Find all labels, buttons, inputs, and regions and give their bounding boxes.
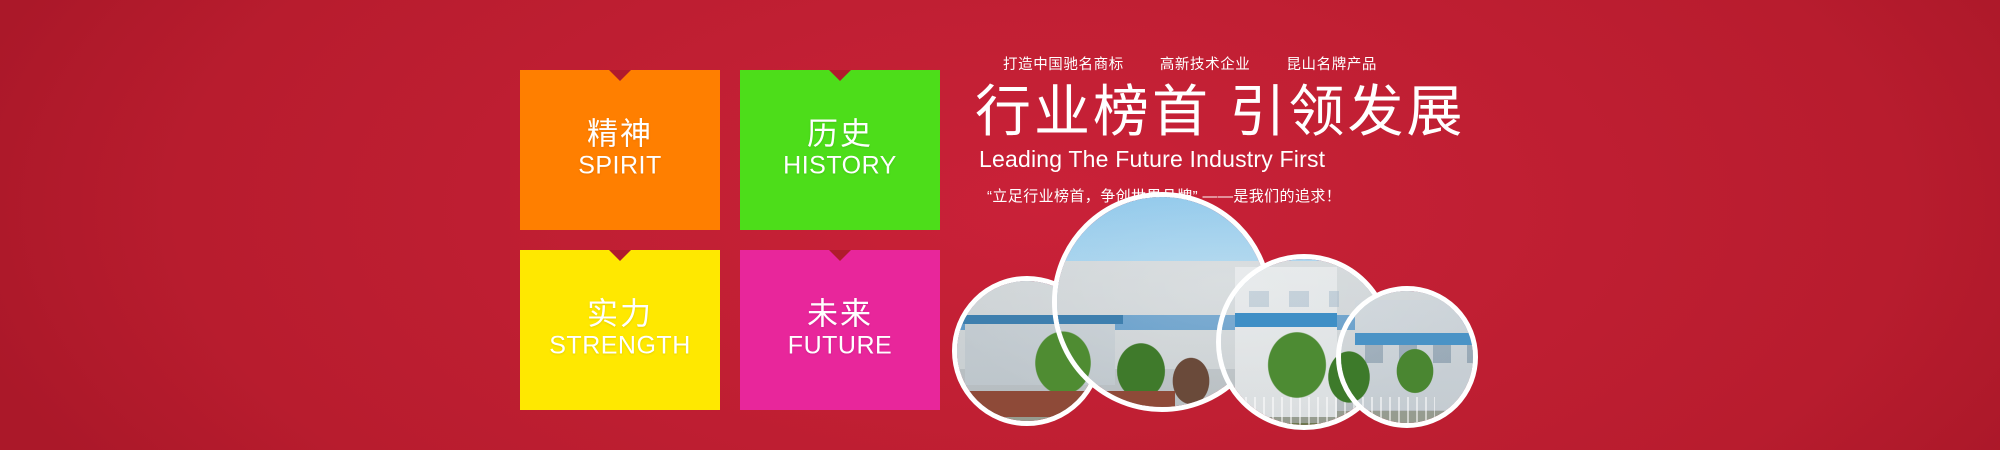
credential-badge-row: 打造中国驰名商标 高新技术企业 昆山名牌产品	[975, 52, 1495, 74]
tile-history[interactable]: 历史 HISTORY	[740, 70, 940, 230]
tile-history-label-en: HISTORY	[740, 152, 940, 179]
tile-future[interactable]: 未来 FUTURE	[740, 250, 940, 410]
tile-strength-text: 实力 STRENGTH	[520, 299, 720, 359]
tile-future-label-cn: 未来	[740, 299, 940, 332]
photo-haze	[1336, 286, 1478, 428]
tile-future-label-en: FUTURE	[740, 332, 940, 359]
photo-bubble-far-right	[1336, 286, 1478, 428]
subtitle-english: Leading The Future Industry First	[975, 146, 1495, 173]
tile-spirit-text: 精神 SPIRIT	[520, 119, 720, 179]
tile-spirit-label-en: SPIRIT	[520, 152, 720, 179]
promo-banner: 精神 SPIRIT 历史 HISTORY 实力 STRENGTH 未来 FUTU…	[0, 0, 2000, 450]
factory-photo-image	[1336, 286, 1478, 428]
building-windows-upper	[1336, 286, 1478, 428]
tile-future-text: 未来 FUTURE	[740, 299, 940, 359]
tile-strength[interactable]: 实力 STRENGTH	[520, 250, 720, 410]
page-title: 行业榜首 引领发展	[975, 80, 1495, 144]
badge-high-tech-enterprise: 高新技术企业	[1160, 53, 1251, 74]
factory-photo-collage	[940, 190, 1500, 450]
tile-spirit-label-cn: 精神	[520, 119, 720, 152]
badge-kunshan-famous-product: 昆山名牌产品	[1286, 53, 1377, 74]
tile-notch-icon	[609, 250, 631, 261]
tile-strength-label-en: STRENGTH	[520, 332, 720, 359]
tile-notch-icon	[829, 70, 851, 81]
value-tile-grid: 精神 SPIRIT 历史 HISTORY 实力 STRENGTH 未来 FUTU…	[520, 70, 940, 320]
tile-notch-icon	[609, 70, 631, 81]
tile-strength-label-cn: 实力	[520, 299, 720, 332]
badge-china-famous-trademark: 打造中国驰名商标	[1003, 53, 1124, 74]
building-windows	[1336, 286, 1478, 428]
headline-copy-block: 打造中国驰名商标 高新技术企业 昆山名牌产品 行业榜首 引领发展 Leading…	[975, 52, 1495, 206]
tile-history-label-cn: 历史	[740, 119, 940, 152]
tile-history-text: 历史 HISTORY	[740, 119, 940, 179]
tile-spirit[interactable]: 精神 SPIRIT	[520, 70, 720, 230]
tile-notch-icon	[829, 250, 851, 261]
